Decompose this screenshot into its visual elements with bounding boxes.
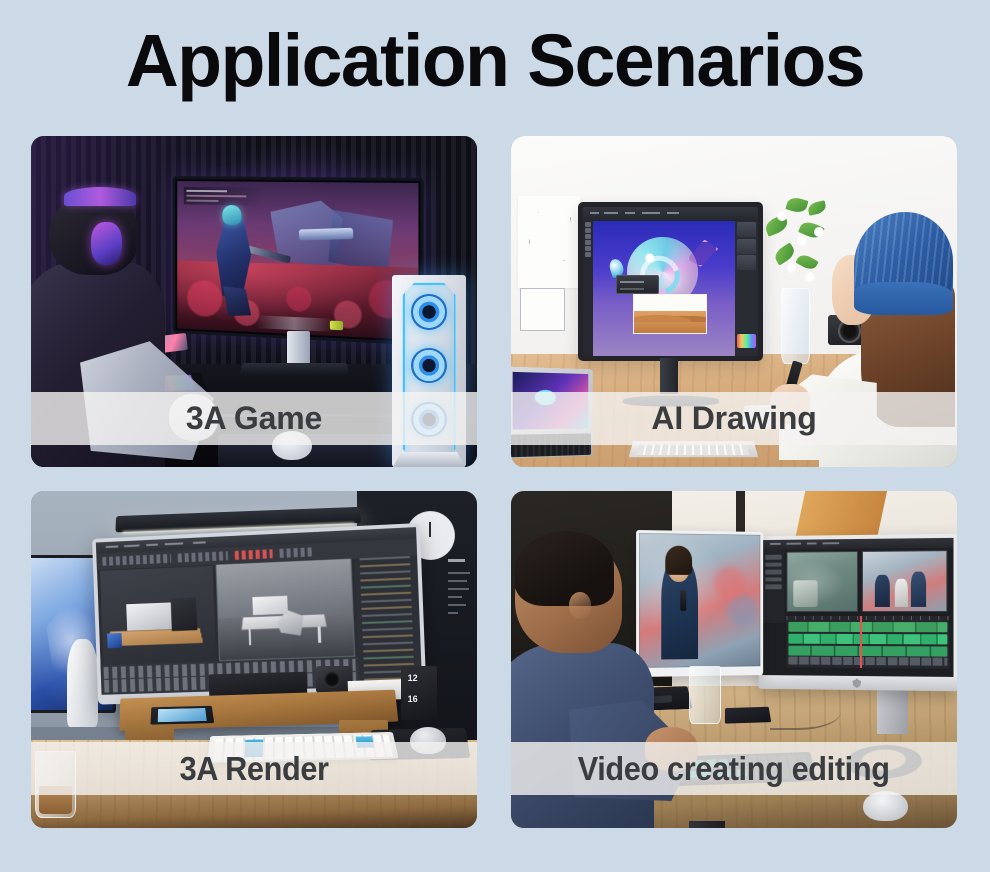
editor-ear [569, 592, 591, 619]
artwork-reference-preview [633, 294, 707, 335]
game-screen [177, 181, 418, 340]
editor-source-viewer [787, 551, 859, 611]
caption-label: Video creating editing [578, 750, 890, 788]
timeline-track [788, 634, 948, 645]
preview-monitor [636, 530, 763, 677]
toolbar-group [178, 551, 229, 563]
video-editor-screen [763, 538, 954, 677]
toolbar-group-highlight [235, 549, 274, 560]
desk-speaker [67, 639, 98, 727]
render-outliner-panel [354, 551, 422, 685]
water-glass [689, 666, 720, 723]
plant-leaf [807, 201, 827, 217]
caption-label: AI Drawing [651, 400, 816, 437]
tower-fan [411, 348, 446, 383]
headset-headband [64, 187, 135, 205]
editor-menu-bar [763, 538, 954, 550]
panel-block [737, 239, 755, 254]
toolbar-group [103, 554, 172, 566]
viewport-desk [108, 629, 203, 647]
panel-block [766, 555, 782, 560]
calendar-number-bottom: 16 [408, 694, 418, 704]
monitor-neck [287, 331, 309, 364]
mouse [863, 791, 908, 821]
camera [316, 666, 352, 693]
preview-screen [639, 533, 760, 668]
game-hud-overlay [184, 187, 263, 206]
scenario-card-ai-drawing[interactable]: AI Drawing [511, 136, 957, 467]
plant-flower [797, 236, 807, 246]
glass-vase [781, 288, 810, 364]
plant-flower [787, 263, 797, 273]
game-character-helmet [222, 206, 242, 226]
software-tool-rail [583, 221, 594, 356]
caption-band-3a-game: 3A Game [31, 392, 477, 445]
caption-band-ai-drawing: AI Drawing [511, 392, 957, 445]
viewport-monitor [126, 603, 174, 631]
software-menu-bar [583, 207, 758, 220]
game-pipe [299, 228, 353, 240]
color-swatch-strip [737, 334, 755, 348]
page-title: Application Scenarios [5, 24, 985, 98]
editor-timeline [787, 615, 950, 668]
editor-program-viewer [862, 550, 947, 611]
timeline-ruler [787, 615, 950, 620]
plant-leaf [785, 195, 808, 213]
imac-display [759, 534, 957, 691]
clip-subject [911, 572, 926, 607]
plant-flower [805, 272, 815, 282]
caption-band-3a-render: 3A Render [31, 742, 477, 795]
plant-leaf [772, 243, 797, 266]
tower-foot [392, 452, 466, 467]
preview-background-blur [713, 556, 756, 649]
render-viewport-shaded [100, 567, 216, 666]
editor-tool-panel [763, 549, 785, 622]
preview-microphone [680, 590, 686, 611]
monitor-neck [660, 358, 678, 394]
calendar-block: 12 16 [401, 666, 437, 720]
software-popup-panel [616, 275, 659, 294]
design-monitor [578, 202, 763, 361]
panel-block [766, 562, 782, 567]
monitor-base [239, 363, 349, 375]
panel-block [766, 570, 782, 574]
caption-label: 3A Render [179, 750, 328, 788]
scenario-card-video-creating-editing[interactable]: Video creating editing [511, 491, 957, 828]
panel-block [766, 584, 782, 588]
editor-hair [515, 531, 613, 605]
viewport-monitor-clay [253, 596, 288, 615]
render-software-screen [96, 528, 422, 695]
preview-subject-hair [665, 546, 692, 576]
preview-monitor-stand [689, 821, 725, 828]
beanie-cuff [854, 282, 952, 315]
plant-leaf [795, 252, 818, 273]
artwork-canvas [593, 221, 735, 356]
ultrawide-gaming-monitor [173, 177, 424, 346]
timeline-track [788, 646, 948, 657]
wall-poster-text [448, 559, 472, 620]
scenario-card-grid: 3A Game [31, 136, 957, 828]
scenario-card-3a-game[interactable]: 3A Game [31, 136, 477, 467]
wall-sketch [518, 196, 580, 289]
timeline-audio-track [788, 657, 948, 666]
tablet-device [151, 706, 215, 725]
software-properties-panel [735, 221, 758, 356]
plant-flower [814, 227, 824, 237]
apple-logo-icon [853, 678, 862, 688]
calendar-number-top: 12 [408, 673, 418, 683]
imac-chin [759, 675, 957, 691]
headset-earcup [91, 222, 122, 265]
viewport-tower [171, 598, 197, 631]
panel-block [737, 222, 755, 237]
render-viewport-wireframe [216, 554, 355, 662]
smartphone [725, 707, 771, 724]
viewport-accent-object [107, 633, 122, 649]
scenario-card-3a-render[interactable]: 12 16 3A Render [31, 491, 477, 828]
wall-sketch-secondary [520, 288, 565, 331]
timeline-track [788, 622, 948, 632]
design-software-screen [583, 207, 758, 356]
toolbar-group [279, 547, 312, 558]
panel-block [766, 577, 782, 581]
tower-fan [411, 294, 446, 329]
caption-label: 3A Game [186, 400, 322, 437]
clip-subject [875, 574, 890, 607]
plant-foliage [761, 189, 837, 302]
panel-block [737, 255, 755, 270]
caption-band-video-creating-editing: Video creating editing [511, 742, 957, 795]
clip-subject [895, 579, 908, 607]
